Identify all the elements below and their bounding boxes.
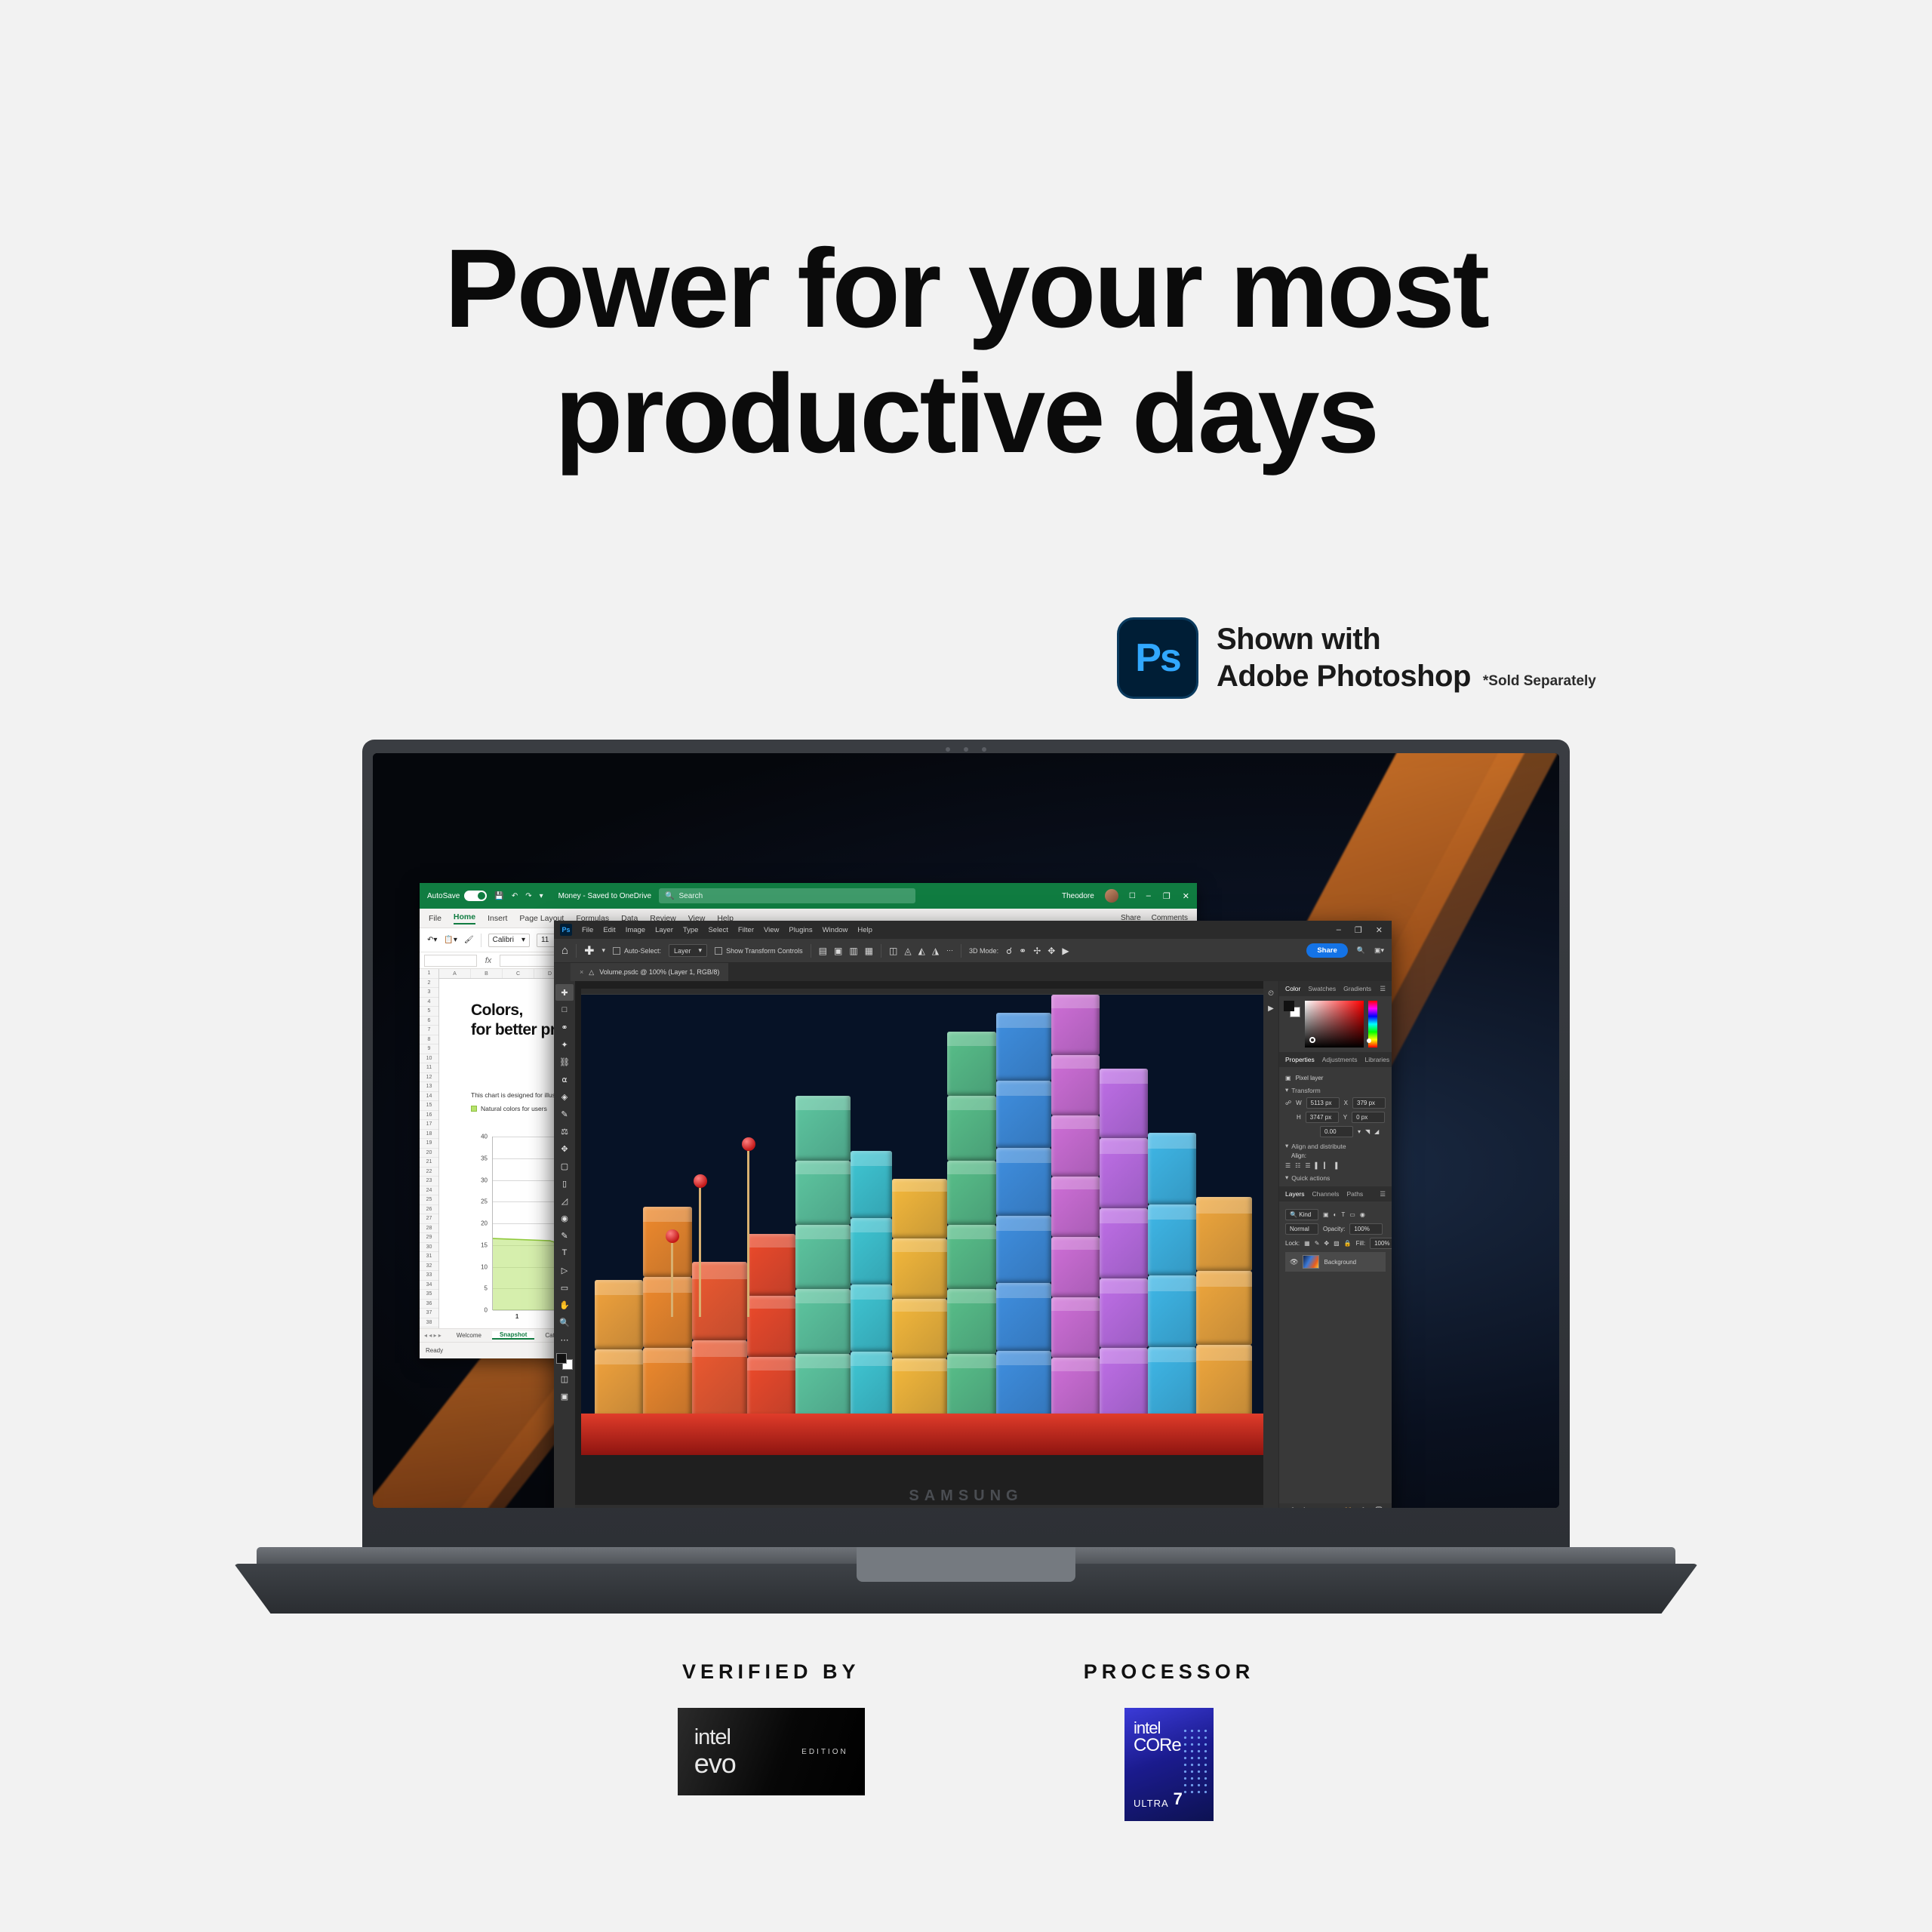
align-horizontal-centers-icon[interactable]: ▎ — [1324, 1162, 1328, 1169]
brush-tool[interactable]: ✎ — [555, 1106, 574, 1122]
tab-paths[interactable]: Paths — [1346, 1190, 1363, 1198]
sheet-tab-snapshot[interactable]: Snapshot — [492, 1331, 534, 1340]
autosave-toggle[interactable]: AutoSave — [427, 891, 487, 901]
row-header[interactable]: 7 — [420, 1026, 438, 1035]
menu-edit[interactable]: Edit — [603, 926, 615, 934]
color-panel[interactable] — [1279, 996, 1392, 1052]
filter-adjustment-icon[interactable]: ◐ — [1334, 1211, 1337, 1218]
zoom-tool[interactable]: 🔍 — [555, 1314, 574, 1331]
row-header[interactable]: 8 — [420, 1035, 438, 1045]
crop-tool[interactable]: ⛓ — [555, 1054, 574, 1070]
align-section-header[interactable]: ▾ Align and distribute — [1285, 1142, 1386, 1150]
color-panel-tabs[interactable]: Color Swatches Gradients ☰ — [1279, 981, 1392, 996]
kind-filter-select[interactable]: 🔍 Kind — [1285, 1209, 1318, 1220]
pan-3d-icon[interactable]: ✢ — [1033, 946, 1041, 956]
excel-search-box[interactable]: 🔍 Search — [659, 888, 915, 903]
align-buttons-group[interactable]: ▤ ▣ ▥ ▦ — [819, 946, 873, 956]
height-label: H — [1297, 1114, 1301, 1121]
tab-libraries[interactable]: Libraries — [1365, 1056, 1390, 1063]
layers-panel[interactable]: 🔍 Kind ▣ ◐ T ▭ ◉ Normal — [1279, 1201, 1392, 1275]
close-button[interactable]: ✕ — [1183, 891, 1189, 901]
verified-by-column: VERIFIED BY intel evo EDITION — [678, 1660, 865, 1821]
menu-image[interactable]: Image — [626, 926, 645, 934]
align-vertical-centers-icon[interactable]: ☷ — [1295, 1162, 1300, 1169]
font-size-value: 11 — [541, 936, 549, 944]
menu-layer[interactable]: Layer — [655, 926, 673, 934]
tool-preset-chevron-down-icon[interactable]: ▾ — [601, 946, 605, 955]
tab-layers[interactable]: Layers — [1285, 1190, 1305, 1198]
y-tick-label: 10 — [481, 1263, 488, 1270]
y-label: Y — [1343, 1114, 1347, 1121]
photoshop-menubar[interactable]: Ps File Edit Image Layer Type Select Fil… — [554, 921, 1392, 939]
transform-section-header[interactable]: ▾ Transform — [1285, 1086, 1386, 1094]
search-icon[interactable]: 🔍 — [1357, 946, 1365, 955]
close-icon[interactable]: × — [580, 968, 583, 976]
document-size: Doc: 34.9M/34.9M — [611, 1508, 660, 1509]
shown-with-photoshop-badge: Ps Shown with Adobe Photoshop *Sold Sepa… — [1117, 617, 1596, 699]
properties-panel[interactable]: ▣ Pixel layer ▾ Transform ☍ W 5113 px — [1279, 1067, 1392, 1186]
row-header[interactable]: 3 — [420, 988, 438, 998]
chevron-down-icon: ▾ — [1285, 1142, 1288, 1150]
align-center-horizontal-icon[interactable]: ▣ — [834, 946, 842, 956]
transform-h-y-row[interactable]: H 3747 px Y 0 px — [1285, 1112, 1386, 1123]
rectangle-tool[interactable]: ▭ — [555, 1279, 574, 1296]
row-header[interactable]: 20 — [420, 1149, 438, 1158]
row-header[interactable]: 10 — [420, 1054, 438, 1064]
cube-block — [1051, 995, 1100, 1055]
hue-slider[interactable] — [1368, 1001, 1377, 1048]
evo-edition-text: EDITION — [801, 1748, 848, 1756]
filter-type-icon[interactable]: T — [1341, 1211, 1345, 1218]
opacity-input[interactable]: 100% — [1349, 1223, 1383, 1235]
new-group-icon[interactable]: 📁 — [1343, 1506, 1352, 1509]
path-select-tool[interactable]: ▷ — [555, 1262, 574, 1278]
layer-name[interactable]: Background — [1324, 1259, 1356, 1266]
ps-badge-line-2: Adobe Photoshop — [1217, 660, 1471, 694]
ribbon-tab-insert[interactable]: Insert — [488, 914, 507, 923]
pen-tool[interactable]: ✎ — [555, 1227, 574, 1244]
paste-icon[interactable]: 📋▾ — [444, 936, 457, 944]
menu-view[interactable]: View — [764, 926, 779, 934]
row-header[interactable]: 28 — [420, 1224, 438, 1234]
row-header[interactable]: 31 — [420, 1252, 438, 1262]
row-header[interactable]: 15 — [420, 1101, 438, 1111]
lock-position-icon[interactable]: ✥ — [1324, 1240, 1329, 1247]
lock-transparent-icon[interactable]: ▦ — [1304, 1240, 1310, 1247]
font-name-select[interactable]: Calibri▾ — [488, 934, 530, 947]
zoom-level[interactable]: 100% — [581, 1508, 596, 1509]
row-header[interactable]: 37 — [420, 1309, 438, 1318]
ribbon-tab-home[interactable]: Home — [454, 912, 475, 924]
lock-label: Lock: — [1285, 1240, 1300, 1247]
move-tool[interactable]: ✚ — [555, 984, 574, 1001]
x-tick-label: 1 — [492, 1313, 542, 1320]
show-transform-controls-checkbox[interactable]: Show Transform Controls — [715, 947, 803, 955]
row-header[interactable]: 13 — [420, 1082, 438, 1092]
align-buttons-row[interactable]: ☰ ☷ ☰ ▌ ▎ ▐ — [1285, 1162, 1386, 1169]
cube-block — [947, 1161, 995, 1225]
y-tick-label: 15 — [481, 1241, 488, 1248]
eyedropper-tool[interactable]: ⍺ — [555, 1071, 574, 1088]
cube-block — [1148, 1204, 1196, 1276]
marquee-tool[interactable]: □ — [555, 1001, 574, 1018]
align-right-icon[interactable]: ▥ — [849, 946, 857, 956]
history-rail-icon[interactable]: ⏲ — [1263, 986, 1278, 1001]
cube-block — [643, 1277, 691, 1348]
intel-core-ultra-logo: intel CORe ULTRA 7 — [1124, 1708, 1214, 1821]
cube-block — [1051, 1115, 1100, 1176]
row-header[interactable]: 34 — [420, 1281, 438, 1291]
share-button[interactable]: Share — [1306, 943, 1347, 958]
row-header[interactable]: 33 — [420, 1271, 438, 1281]
redo-icon[interactable]: ↷ — [525, 892, 531, 900]
menu-filter[interactable]: Filter — [738, 926, 754, 934]
tab-channels[interactable]: Channels — [1312, 1190, 1340, 1198]
core-ultra-text: ULTRA — [1134, 1798, 1169, 1809]
slide-3d-icon[interactable]: ✥ — [1048, 946, 1055, 956]
quick-access-toolbar[interactable]: 💾 ↶ ↷ ▾ — [494, 892, 543, 900]
layer-style-icon[interactable]: fx — [1303, 1506, 1308, 1508]
photoshop-right-panels[interactable]: Color Swatches Gradients ☰ — [1278, 981, 1392, 1508]
row-header[interactable]: 6 — [420, 1017, 438, 1026]
roll-3d-icon[interactable]: ⚭ — [1019, 946, 1026, 956]
row-header[interactable]: 4 — [420, 998, 438, 1008]
row-header[interactable]: 23 — [420, 1177, 438, 1186]
new-layer-icon[interactable]: ✚ — [1361, 1506, 1367, 1509]
row-header[interactable]: 14 — [420, 1092, 438, 1102]
menu-select[interactable]: Select — [708, 926, 728, 934]
flip-vertical-icon[interactable]: ◢ — [1374, 1128, 1379, 1135]
row-header[interactable]: 9 — [420, 1044, 438, 1054]
align-top-edges-icon[interactable]: ☰ — [1285, 1162, 1291, 1169]
link-layers-icon[interactable]: ☍ — [1287, 1506, 1294, 1509]
avatar[interactable] — [1105, 889, 1118, 903]
lock-fill-row[interactable]: Lock: ▦ ✎ ✥ ▨ 🔒 Fill: 100% — [1285, 1238, 1386, 1249]
quick-mask-icon[interactable]: ◫ — [555, 1371, 574, 1387]
camera-3d-icon[interactable]: ▶ — [1062, 946, 1069, 956]
filter-shape-icon[interactable]: ▭ — [1349, 1211, 1355, 1218]
maximize-button[interactable]: ❐ — [1355, 925, 1362, 935]
row-header[interactable]: 32 — [420, 1262, 438, 1272]
undo-icon[interactable]: ↶▾ — [427, 936, 437, 944]
sold-separately-note: *Sold Separately — [1483, 673, 1596, 694]
tab-gradients[interactable]: Gradients — [1343, 985, 1371, 992]
type-tool[interactable]: T — [555, 1244, 574, 1261]
intel-evo-logo: intel evo EDITION — [678, 1708, 865, 1795]
tab-properties[interactable]: Properties — [1285, 1056, 1315, 1063]
divider — [576, 944, 577, 958]
gradient-tool[interactable]: ▯ — [555, 1175, 574, 1192]
properties-panel-tabs[interactable]: Properties Adjustments Libraries ☰ — [1279, 1052, 1392, 1067]
tab-swatches[interactable]: Swatches — [1308, 985, 1336, 992]
cube-block — [1196, 1345, 1251, 1419]
menu-help[interactable]: Help — [857, 926, 872, 934]
layer-mask-icon[interactable]: ▣ — [1316, 1506, 1323, 1509]
link-ratio-icon[interactable]: ☍ — [1285, 1100, 1291, 1106]
y-tick-label: 20 — [481, 1220, 488, 1227]
cube-block — [1100, 1069, 1148, 1139]
workspace-icon[interactable]: ▣▾ — [1374, 946, 1384, 955]
align-right-edges-icon[interactable]: ▐ — [1333, 1162, 1337, 1169]
column-header[interactable]: A — [439, 969, 471, 978]
menu-type[interactable]: Type — [683, 926, 699, 934]
laptop-base-notch — [857, 1547, 1075, 1582]
legend-swatch — [471, 1106, 477, 1112]
clone-stamp-tool[interactable]: ⚖ — [555, 1123, 574, 1140]
row-header[interactable]: 2 — [420, 979, 438, 989]
status-text: Ready — [426, 1347, 443, 1354]
row-header[interactable]: 30 — [420, 1243, 438, 1253]
autosave-switch[interactable] — [464, 891, 487, 901]
distribute-vertical-icon[interactable]: ◮ — [932, 946, 939, 956]
document-thumbnail-icon: △ — [589, 968, 594, 977]
width-label: W — [1296, 1100, 1302, 1106]
panel-rail[interactable]: ⏲ ▶ — [1263, 981, 1278, 1508]
row-header[interactable]: 19 — [420, 1139, 438, 1149]
cube-block — [947, 1096, 995, 1160]
row-header[interactable]: 12 — [420, 1073, 438, 1083]
divider — [811, 944, 811, 958]
sheet-nav-buttons[interactable]: ◂ ◂ ▸ ▸ — [424, 1332, 441, 1339]
laptop-lid: AutoSave 💾 ↶ ↷ ▾ Money - Saved to OneDri… — [362, 740, 1570, 1551]
row-header[interactable]: 16 — [420, 1111, 438, 1121]
undo-icon[interactable]: ↶ — [512, 892, 518, 900]
panel-menu-icon[interactable]: ☰ — [1380, 1190, 1386, 1198]
row-header[interactable]: 5 — [420, 1007, 438, 1017]
lock-all-icon[interactable]: 🔒 — [1344, 1240, 1352, 1247]
cube-block — [1196, 1197, 1251, 1271]
cube-block — [892, 1358, 947, 1418]
chevron-down-icon: ▾ — [1285, 1174, 1288, 1182]
row-header[interactable]: 11 — [420, 1063, 438, 1073]
status-chevron-icon[interactable]: ❯ — [676, 1508, 681, 1509]
row-header[interactable]: 36 — [420, 1300, 438, 1309]
magic-wand-tool[interactable]: ✦ — [555, 1036, 574, 1053]
foreground-background-color[interactable] — [556, 1353, 573, 1370]
row-header[interactable]: 18 — [420, 1130, 438, 1140]
document-tab[interactable]: × △ Volume.psdc @ 100% (Layer 1, RGB/8) — [571, 963, 728, 981]
processor-column: PROCESSOR intel CORe ULTRA 7 — [1084, 1660, 1255, 1821]
color-swatches[interactable] — [1284, 1001, 1300, 1017]
excel-user-name[interactable]: Theodore — [1062, 892, 1094, 900]
hue-slider-handle[interactable] — [1367, 1038, 1371, 1043]
screen-mode-icon[interactable]: ▣ — [555, 1388, 574, 1404]
column-header[interactable]: C — [503, 969, 534, 978]
distribute-buttons-group[interactable]: ◫ ◬ ◭ ◮ — [889, 946, 939, 956]
lock-image-icon[interactable]: ✎ — [1315, 1240, 1320, 1247]
menu-plugins[interactable]: Plugins — [789, 926, 812, 934]
y-input[interactable]: 0 px — [1352, 1112, 1385, 1123]
window-controls[interactable]: – ❐ ✕ — [1146, 891, 1189, 901]
cube-block — [1100, 1138, 1148, 1208]
photoshop-share-area[interactable]: Share 🔍 ▣▾ — [1306, 943, 1384, 958]
layer-row-background[interactable]: 👁 Background — [1285, 1252, 1386, 1272]
align-section-label: Align and distribute — [1291, 1143, 1346, 1150]
move-tool-icon[interactable]: ✚ — [584, 943, 594, 958]
photoshop-canvas-area[interactable]: 100% Doc: 34.9M/34.9M ❯ — [575, 981, 1278, 1508]
blur-tool[interactable]: ◿ — [555, 1192, 574, 1209]
cube-block — [947, 1289, 995, 1353]
height-input[interactable]: 3747 px — [1306, 1112, 1339, 1123]
photoshop-toolbar[interactable]: ✚ □ ⚭ ✦ ⛓ ⍺ ◈ ✎ ⚖ ✥ ▢ ▯ ◿ ◉ ✎ — [554, 981, 575, 1508]
menu-file[interactable]: File — [582, 926, 593, 934]
chart-y-axis: 0510152025303540 — [469, 1137, 491, 1310]
eraser-tool[interactable]: ▢ — [555, 1158, 574, 1174]
more-options-icon[interactable]: ⋯ — [946, 946, 953, 955]
evo-evo-text: evo — [694, 1750, 736, 1777]
minimize-button[interactable]: – — [1146, 891, 1151, 901]
photoshop-document-tabbar[interactable]: × △ Volume.psdc @ 100% (Layer 1, RGB/8) — [554, 963, 1392, 981]
close-button[interactable]: ✕ — [1376, 925, 1383, 935]
chart-legend: Natural colors for users — [471, 1105, 547, 1112]
dodge-tool[interactable]: ◉ — [555, 1210, 574, 1226]
pin-stick — [671, 1243, 673, 1317]
filter-smart-icon[interactable]: ◉ — [1360, 1211, 1365, 1218]
cube-block — [851, 1284, 892, 1351]
quick-actions-label: Quick actions — [1291, 1174, 1330, 1182]
history-brush-tool[interactable]: ✥ — [555, 1140, 574, 1157]
photoshop-status-bar: 100% Doc: 34.9M/34.9M ❯ — [575, 1505, 1278, 1508]
transform-w-x-row[interactable]: ☍ W 5113 px X 379 px — [1285, 1097, 1386, 1109]
row-header[interactable]: 21 — [420, 1158, 438, 1168]
fill-input[interactable]: 100% — [1370, 1238, 1392, 1249]
photoshop-canvas[interactable] — [581, 995, 1272, 1455]
samsung-logo: SAMSUNG — [373, 1487, 1559, 1505]
excel-document-title[interactable]: Money - Saved to OneDrive — [558, 892, 651, 900]
laptop-base — [234, 1547, 1698, 1630]
row-header[interactable]: 25 — [420, 1195, 438, 1205]
opacity-label: Opacity: — [1323, 1226, 1345, 1232]
legend-label: Natural colors for users — [481, 1105, 547, 1112]
cube-block — [947, 1032, 995, 1096]
layers-panel-tabs[interactable]: Layers Channels Paths ☰ — [1279, 1186, 1392, 1201]
y-tick-label: 0 — [485, 1307, 488, 1314]
save-icon[interactable]: 💾 — [494, 892, 503, 900]
ps-badge-line-1: Shown with — [1217, 623, 1596, 657]
row-header[interactable]: 29 — [420, 1233, 438, 1243]
cube-block — [1100, 1278, 1148, 1349]
x-input[interactable]: 379 px — [1352, 1097, 1386, 1109]
evo-wordmark: intel evo — [694, 1727, 736, 1777]
mode3d-buttons-group[interactable]: ☌ ⚭ ✢ ✥ ▶ — [1006, 946, 1069, 956]
ribbon-display-icon[interactable]: ☐ — [1129, 892, 1136, 900]
y-tick-label: 30 — [481, 1177, 488, 1183]
y-tick-label: 5 — [485, 1285, 488, 1292]
tab-color[interactable]: Color — [1285, 985, 1300, 992]
row-header[interactable]: 27 — [420, 1214, 438, 1224]
lock-nesting-icon[interactable]: ▨ — [1334, 1240, 1340, 1247]
healing-brush-tool[interactable]: ◈ — [555, 1088, 574, 1105]
align-left-edges-icon[interactable]: ▌ — [1315, 1162, 1320, 1169]
width-input[interactable]: 5113 px — [1306, 1097, 1340, 1109]
auto-select-checkbox[interactable]: Auto-Select: — [613, 947, 661, 955]
cube-block — [747, 1234, 795, 1295]
cube-block — [851, 1218, 892, 1284]
panel-menu-icon[interactable]: ☰ — [1380, 985, 1386, 993]
column-header[interactable]: B — [471, 969, 503, 978]
row-header[interactable]: 17 — [420, 1120, 438, 1130]
more-tools-icon[interactable]: ⋯ — [555, 1331, 574, 1348]
row-header[interactable]: 22 — [420, 1168, 438, 1177]
distribute-center-icon[interactable]: ◬ — [904, 946, 911, 956]
sheet-tab-welcome[interactable]: Welcome — [449, 1332, 489, 1339]
row-header[interactable]: 35 — [420, 1290, 438, 1300]
angle-input[interactable]: 0.00 — [1320, 1126, 1353, 1137]
foreground-color-swatch[interactable] — [1284, 1001, 1294, 1011]
row-header[interactable]: 1 — [420, 969, 438, 979]
color-picker-cursor[interactable] — [1309, 1037, 1315, 1043]
verified-by-label: VERIFIED BY — [682, 1660, 860, 1684]
layer-visibility-icon[interactable]: 👁 — [1290, 1258, 1298, 1266]
delete-layer-icon[interactable]: 🗑 — [1374, 1506, 1383, 1509]
blend-opacity-row[interactable]: Normal Opacity: 100% — [1285, 1223, 1386, 1235]
hand-tool[interactable]: ✋ — [555, 1297, 574, 1313]
chevron-down-icon: ▾ — [1285, 1086, 1288, 1094]
minimize-button[interactable]: – — [1337, 925, 1341, 935]
menu-window[interactable]: Window — [823, 926, 848, 934]
actions-rail-icon[interactable]: ▶ — [1263, 1001, 1278, 1016]
adjustment-layer-icon[interactable]: ◐ — [1331, 1506, 1335, 1508]
filter-image-icon[interactable]: ▣ — [1323, 1211, 1329, 1218]
laptop-screen: AutoSave 💾 ↶ ↷ ▾ Money - Saved to OneDri… — [373, 753, 1559, 1508]
row-header[interactable]: 24 — [420, 1186, 438, 1196]
flip-horizontal-icon[interactable]: ◥ — [1365, 1128, 1370, 1135]
cube-block — [1100, 1348, 1148, 1418]
cube-block — [851, 1151, 892, 1217]
chevron-down-icon[interactable]: ▾ — [1358, 1128, 1361, 1135]
format-painter-icon[interactable]: 🖌 — [464, 936, 474, 944]
align-left-icon[interactable]: ▤ — [819, 946, 827, 956]
photoshop-options-bar[interactable]: ⌂ ✚ ▾ Auto-Select: Layer ▾ Show Transfor — [554, 939, 1392, 963]
search-icon: 🔍 — [1290, 1211, 1297, 1218]
foreground-color-swatch[interactable] — [556, 1353, 567, 1364]
photoshop-window[interactable]: Ps File Edit Image Layer Type Select Fil… — [554, 921, 1392, 1508]
auto-select-label: Auto-Select: — [624, 947, 661, 955]
cube-block — [996, 1283, 1051, 1350]
distribute-left-icon[interactable]: ◫ — [889, 946, 897, 956]
tab-adjustments[interactable]: Adjustments — [1322, 1056, 1358, 1063]
headline-line-2: productive days — [0, 352, 1932, 477]
layer-type-label: Pixel layer — [1296, 1075, 1324, 1081]
row-header[interactable]: 38 — [420, 1318, 438, 1328]
layer-filter-row[interactable]: 🔍 Kind ▣ ◐ T ▭ ◉ — [1285, 1209, 1386, 1220]
ribbon-tab-file[interactable]: File — [429, 914, 441, 923]
divider — [881, 944, 881, 958]
customize-qat-icon[interactable]: ▾ — [540, 892, 543, 900]
chevron-down-icon: ▾ — [699, 946, 703, 955]
cube-block — [1100, 1208, 1148, 1278]
name-box[interactable] — [424, 955, 477, 967]
lasso-tool[interactable]: ⚭ — [555, 1019, 574, 1035]
orbit-3d-icon[interactable]: ☌ — [1006, 946, 1012, 956]
transform-angle-row[interactable]: 0.00 ▾ ◥ ◢ — [1285, 1126, 1386, 1137]
maximize-button[interactable]: ❐ — [1163, 891, 1171, 901]
pixel-layer-icon: ▣ — [1285, 1075, 1291, 1081]
core-dot-pattern — [1182, 1727, 1207, 1795]
insert-function-icon[interactable]: fx — [481, 956, 495, 965]
window-controls[interactable]: – ❐ ✕ — [1337, 925, 1386, 935]
color-picker-field[interactable] — [1305, 1001, 1364, 1048]
cube-block — [947, 1354, 995, 1418]
align-bottom-edges-icon[interactable]: ☰ — [1305, 1162, 1310, 1169]
auto-select-scope-select[interactable]: Layer ▾ — [669, 944, 707, 957]
home-icon[interactable]: ⌂ — [561, 944, 568, 957]
quick-actions-header[interactable]: ▾ Quick actions — [1285, 1174, 1386, 1182]
blend-mode-select[interactable]: Normal — [1285, 1223, 1318, 1235]
distribute-right-icon[interactable]: ◭ — [918, 946, 925, 956]
row-header[interactable]: 26 — [420, 1205, 438, 1215]
align-top-icon[interactable]: ▦ — [865, 946, 873, 956]
